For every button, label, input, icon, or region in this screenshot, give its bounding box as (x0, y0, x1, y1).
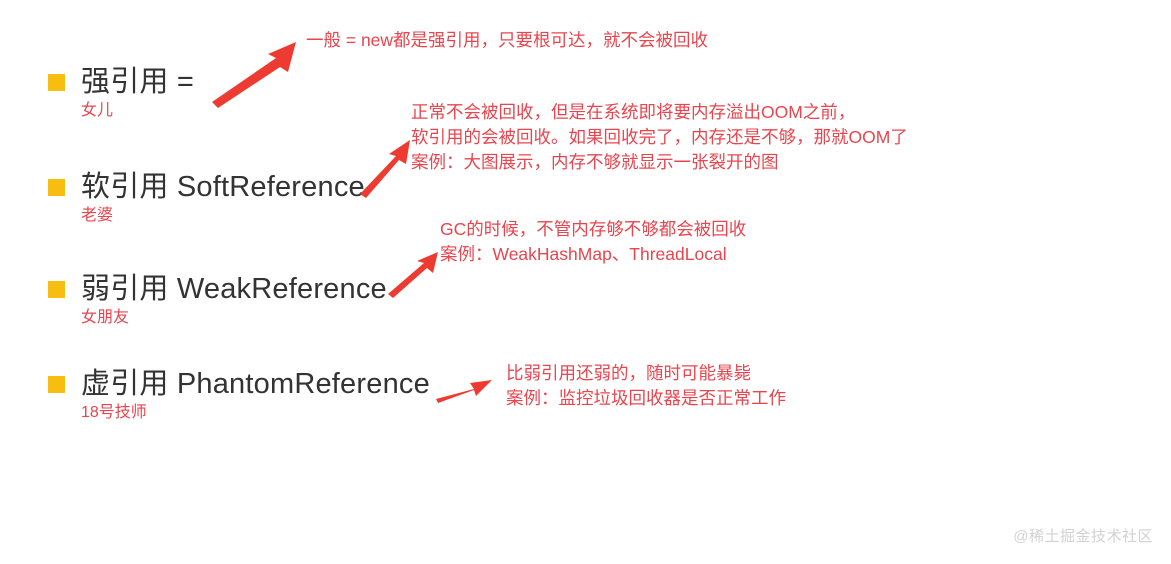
annotation-strong-reference: 一般 = new都是强引用，只要根可达，就不会被回收 (306, 28, 708, 53)
arrow-to-phantom-reference-note (434, 372, 494, 404)
annotation-line: 一般 = new都是强引用，只要根可达，就不会被回收 (306, 28, 708, 53)
bullet-row: 强引用 = (48, 68, 194, 97)
bullet-row: 弱引用 WeakReference (48, 275, 387, 304)
list-item: 强引用 = 女儿 (48, 68, 194, 119)
annotation-line: 正常不会被回收，但是在系统即将要内存溢出OOM之前， (411, 100, 908, 125)
slide-canvas: 强引用 = 女儿 软引用 SoftReference 老婆 弱引用 WeakRe… (0, 0, 1171, 564)
list-item: 软引用 SoftReference 老婆 (48, 173, 365, 224)
annotation-line: 案例：监控垃圾回收器是否正常工作 (506, 386, 786, 411)
list-item-title: 软引用 SoftReference (81, 173, 365, 202)
bullet-row: 软引用 SoftReference (48, 173, 365, 202)
list-item-title: 虚引用 PhantomReference (81, 370, 430, 399)
arrow-to-weak-reference-note (386, 250, 442, 298)
annotation-weak-reference: GC的时候，不管内存够不够都会被回收 案例：WeakHashMap、Thread… (440, 217, 746, 267)
bullet-row: 虚引用 PhantomReference (48, 370, 430, 399)
annotation-phantom-reference: 比弱引用还弱的，随时可能暴毙 案例：监控垃圾回收器是否正常工作 (506, 361, 786, 411)
annotation-line: 案例：大图展示，内存不够就显示一张裂开的图 (411, 150, 908, 175)
watermark: @稀土掘金技术社区 (1013, 525, 1153, 546)
square-bullet-icon (48, 376, 65, 393)
list-item-subtitle: 女朋友 (81, 310, 387, 326)
arrow-to-strong-reference-note (210, 40, 305, 110)
annotation-line: GC的时候，不管内存够不够都会被回收 (440, 217, 746, 242)
list-item-subtitle: 18号技师 (81, 405, 430, 421)
list-item-subtitle: 女儿 (81, 103, 194, 119)
list-item: 弱引用 WeakReference 女朋友 (48, 275, 387, 326)
annotation-line: 案例：WeakHashMap、ThreadLocal (440, 242, 746, 267)
list-item-title: 弱引用 WeakReference (81, 275, 387, 304)
square-bullet-icon (48, 74, 65, 91)
square-bullet-icon (48, 281, 65, 298)
list-item: 虚引用 PhantomReference 18号技师 (48, 370, 430, 421)
annotation-soft-reference: 正常不会被回收，但是在系统即将要内存溢出OOM之前， 软引用的会被回收。如果回收… (411, 100, 908, 175)
list-item-subtitle: 老婆 (81, 208, 365, 224)
annotation-line: 软引用的会被回收。如果回收完了，内存还是不够，那就OOM了 (411, 125, 908, 150)
list-item-title: 强引用 = (81, 68, 194, 97)
arrow-to-soft-reference-note (358, 138, 414, 198)
annotation-line: 比弱引用还弱的，随时可能暴毙 (506, 361, 786, 386)
square-bullet-icon (48, 179, 65, 196)
